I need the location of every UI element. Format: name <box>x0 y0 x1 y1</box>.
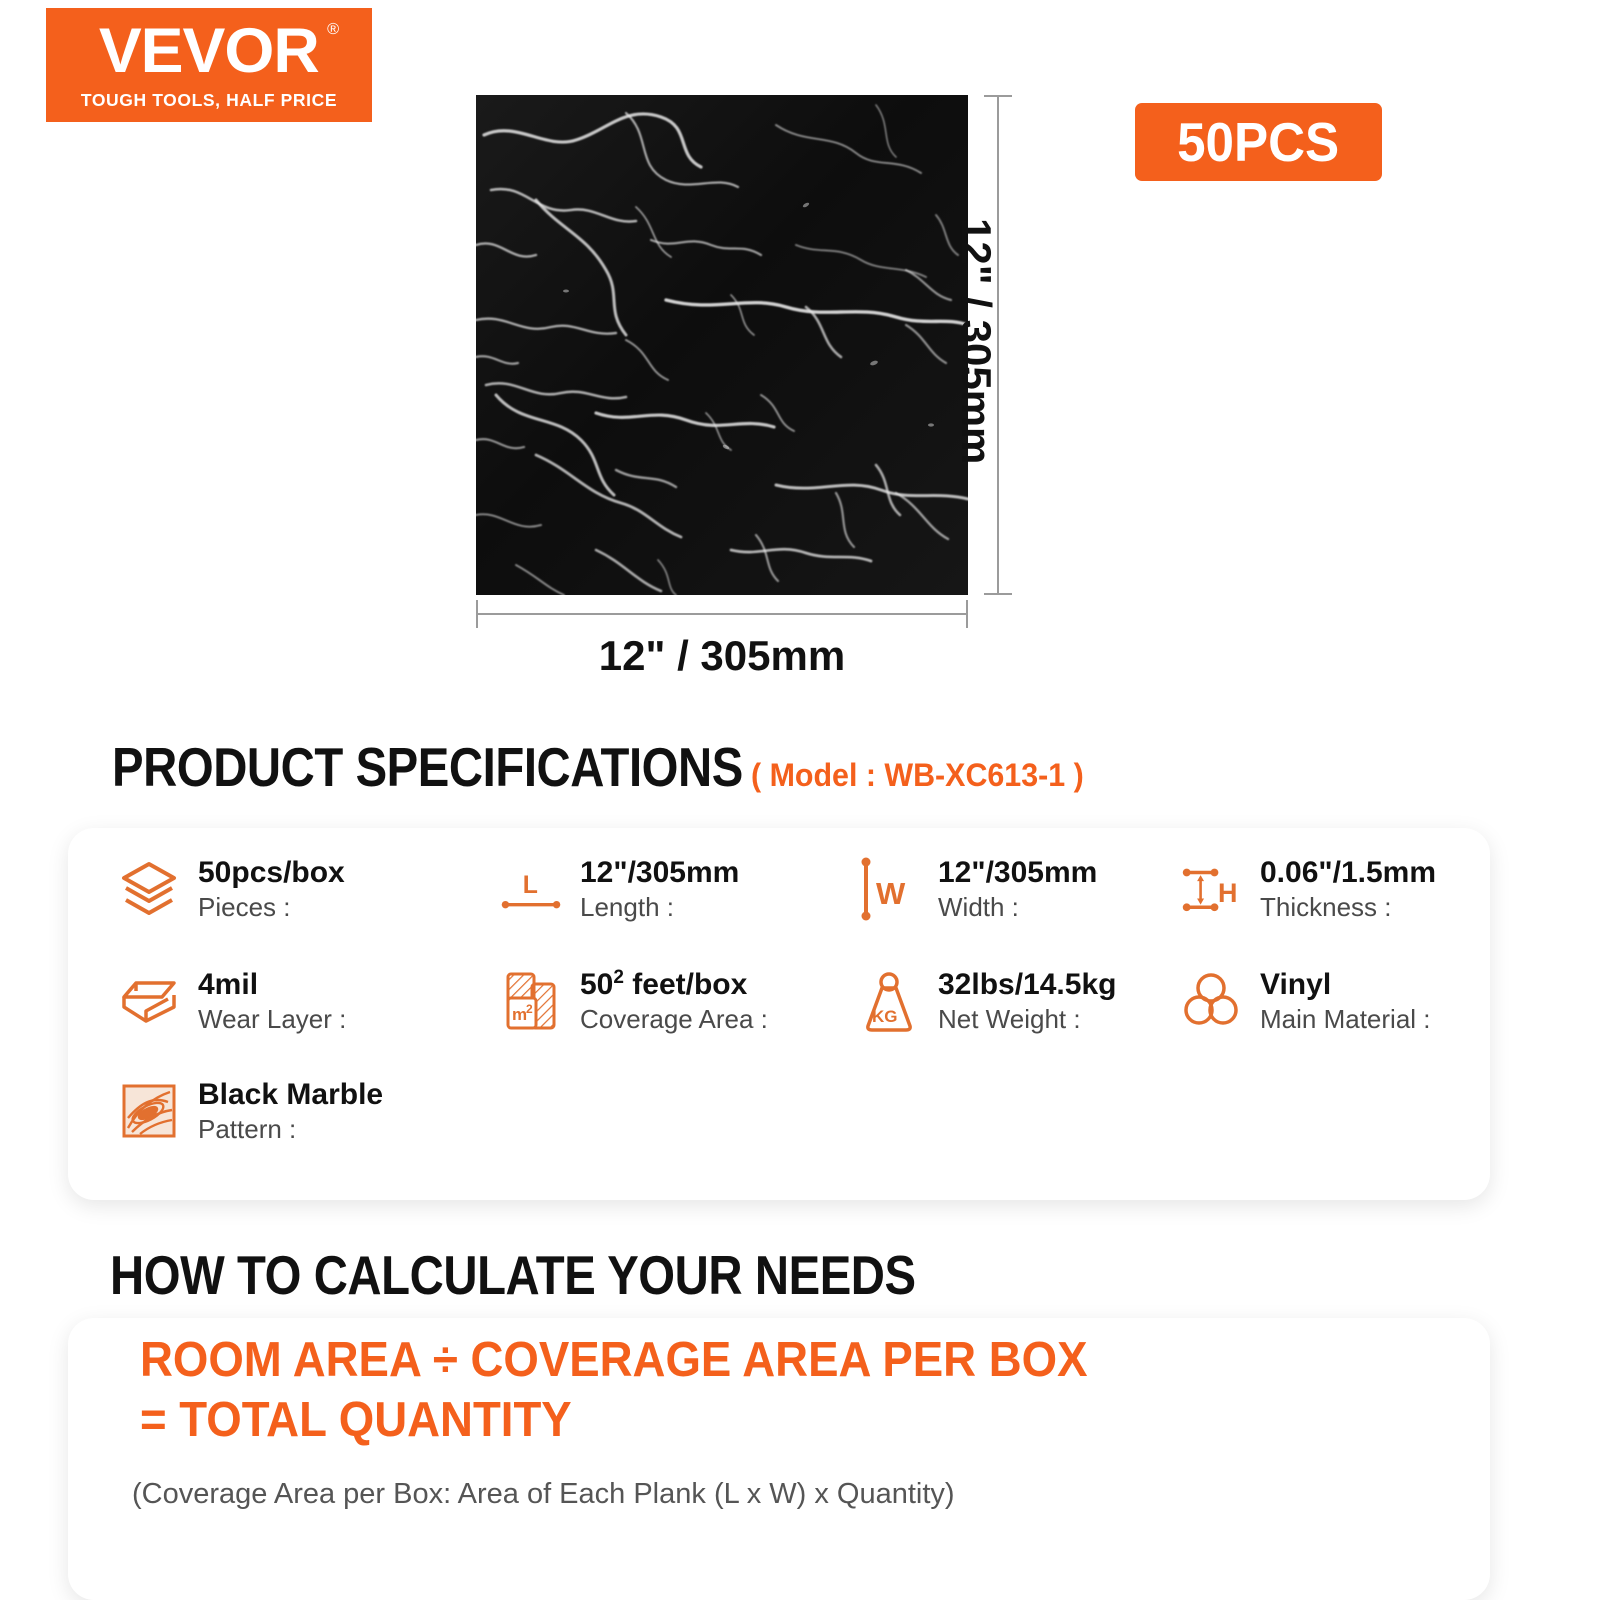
spec-label: Wear Layer : <box>198 1004 346 1035</box>
infographic-page: VEVOR ® TOUGH TOOLS, HALF PRICE 50PCS <box>0 0 1600 1600</box>
brand-wordmark: VEVOR ® <box>99 20 319 83</box>
calc-heading-text: HOW TO CALCULATE YOUR NEEDS <box>110 1243 916 1307</box>
svg-text:2: 2 <box>526 1002 533 1016</box>
weight-icon: KG <box>856 968 922 1034</box>
height-dimension-label: 12" / 305mm <box>952 218 1000 464</box>
svg-text:KG: KG <box>872 1007 898 1026</box>
spec-text: 32lbs/14.5kg Net Weight : <box>938 968 1116 1035</box>
spec-item-wear-layer: 4mil Wear Layer : <box>116 968 346 1035</box>
spec-value: Vinyl <box>1260 968 1431 1002</box>
length-icon: L <box>498 856 564 922</box>
spec-text: 12"/305mm Length : <box>580 856 739 923</box>
spec-item-main-material: Vinyl Main Material : <box>1178 968 1431 1035</box>
spec-label: Width : <box>938 892 1097 923</box>
spec-value: 4mil <box>198 968 346 1002</box>
quantity-badge-label: 50PCS <box>1177 110 1339 174</box>
marble-texture-graphic <box>476 95 968 595</box>
spec-label: Net Weight : <box>938 1004 1116 1035</box>
brand-name: VEVOR <box>99 16 319 86</box>
pattern-icon <box>116 1078 182 1144</box>
spec-item-thickness: H 0.06"/1.5mm Thickness : <box>1178 856 1436 923</box>
spec-value: Black Marble <box>198 1078 383 1112</box>
spec-label: Main Material : <box>1260 1004 1431 1035</box>
spec-value: 12"/305mm <box>580 856 739 890</box>
spec-value: 0.06"/1.5mm <box>1260 856 1436 890</box>
spec-text: 12"/305mm Width : <box>938 856 1097 923</box>
spec-label: Coverage Area : <box>580 1004 768 1035</box>
spec-value: 502 feet/box <box>580 968 768 1002</box>
spec-text: 50pcs/box Pieces : <box>198 856 345 923</box>
vevor-logo: VEVOR ® TOUGH TOOLS, HALF PRICE <box>46 8 372 122</box>
product-specifications-heading: PRODUCT SPECIFICATIONS ( Model : WB-XC61… <box>112 735 1101 799</box>
spec-text: 502 feet/box Coverage Area : <box>580 968 768 1035</box>
spec-value-superscript: 2 <box>613 967 624 988</box>
spec-item-pattern: Black Marble Pattern : <box>116 1078 383 1145</box>
svg-text:W: W <box>876 876 906 911</box>
spec-heading-text: PRODUCT SPECIFICATIONS <box>112 735 743 799</box>
spec-value: 32lbs/14.5kg <box>938 968 1116 1002</box>
spec-label: Pattern : <box>198 1114 383 1145</box>
width-dimension-line <box>476 600 968 628</box>
svg-text:L: L <box>523 873 538 900</box>
formula-line-2: = TOTAL QUANTITY <box>140 1392 572 1448</box>
spec-item-width: W 12"/305mm Width : <box>856 856 1097 923</box>
dimension-cap-left <box>476 600 478 628</box>
layers-icon <box>116 856 182 922</box>
quantity-badge: 50PCS <box>1135 103 1382 181</box>
spec-value: 12"/305mm <box>938 856 1097 890</box>
spec-label: Thickness : <box>1260 892 1436 923</box>
material-icon <box>1178 968 1244 1034</box>
spec-item-pieces: 50pcs/box Pieces : <box>116 856 345 923</box>
model-number-label: ( Model : WB-XC613-1 ) <box>751 757 1084 794</box>
dimension-cap-bottom <box>984 593 1012 595</box>
spec-label: Pieces : <box>198 892 345 923</box>
spec-label: Length : <box>580 892 739 923</box>
brand-tagline: TOUGH TOOLS, HALF PRICE <box>81 90 337 111</box>
dimension-bar <box>476 613 968 615</box>
dimension-cap-right <box>966 600 968 628</box>
formula-line-1: ROOM AREA ÷ COVERAGE AREA PER BOX <box>140 1332 1087 1388</box>
width-dimension-label: 12" / 305mm <box>476 632 968 680</box>
spec-text: 4mil Wear Layer : <box>198 968 346 1035</box>
specifications-grid: 50pcs/box Pieces : L 12"/305mm Length : <box>68 828 1490 1200</box>
svg-text:H: H <box>1218 878 1237 908</box>
spec-value-number: 50 <box>580 968 613 1001</box>
svg-text:m: m <box>512 1005 527 1024</box>
registered-trademark-icon: ® <box>327 22 338 38</box>
spec-item-length: L 12"/305mm Length : <box>498 856 739 923</box>
spec-value-unit: feet/box <box>624 968 747 1001</box>
width-icon: W <box>856 856 922 922</box>
spec-text: Vinyl Main Material : <box>1260 968 1431 1035</box>
spec-value: 50pcs/box <box>198 856 345 890</box>
thickness-icon: H <box>1178 856 1244 922</box>
how-to-calculate-heading: HOW TO CALCULATE YOUR NEEDS <box>110 1243 1047 1307</box>
dimension-cap-top <box>984 95 1012 97</box>
spec-item-coverage-area: m 2 502 feet/box Coverage Area : <box>498 968 768 1035</box>
specifications-card: 50pcs/box Pieces : L 12"/305mm Length : <box>68 828 1490 1200</box>
spec-text: 0.06"/1.5mm Thickness : <box>1260 856 1436 923</box>
spec-text: Black Marble Pattern : <box>198 1078 383 1145</box>
area-icon: m 2 <box>498 968 564 1034</box>
formula-note: (Coverage Area per Box: Area of Each Pla… <box>132 1478 955 1511</box>
wear-layer-icon <box>116 968 182 1034</box>
spec-item-net-weight: KG 32lbs/14.5kg Net Weight : <box>856 968 1116 1035</box>
product-image-black-marble-tile <box>476 95 968 595</box>
